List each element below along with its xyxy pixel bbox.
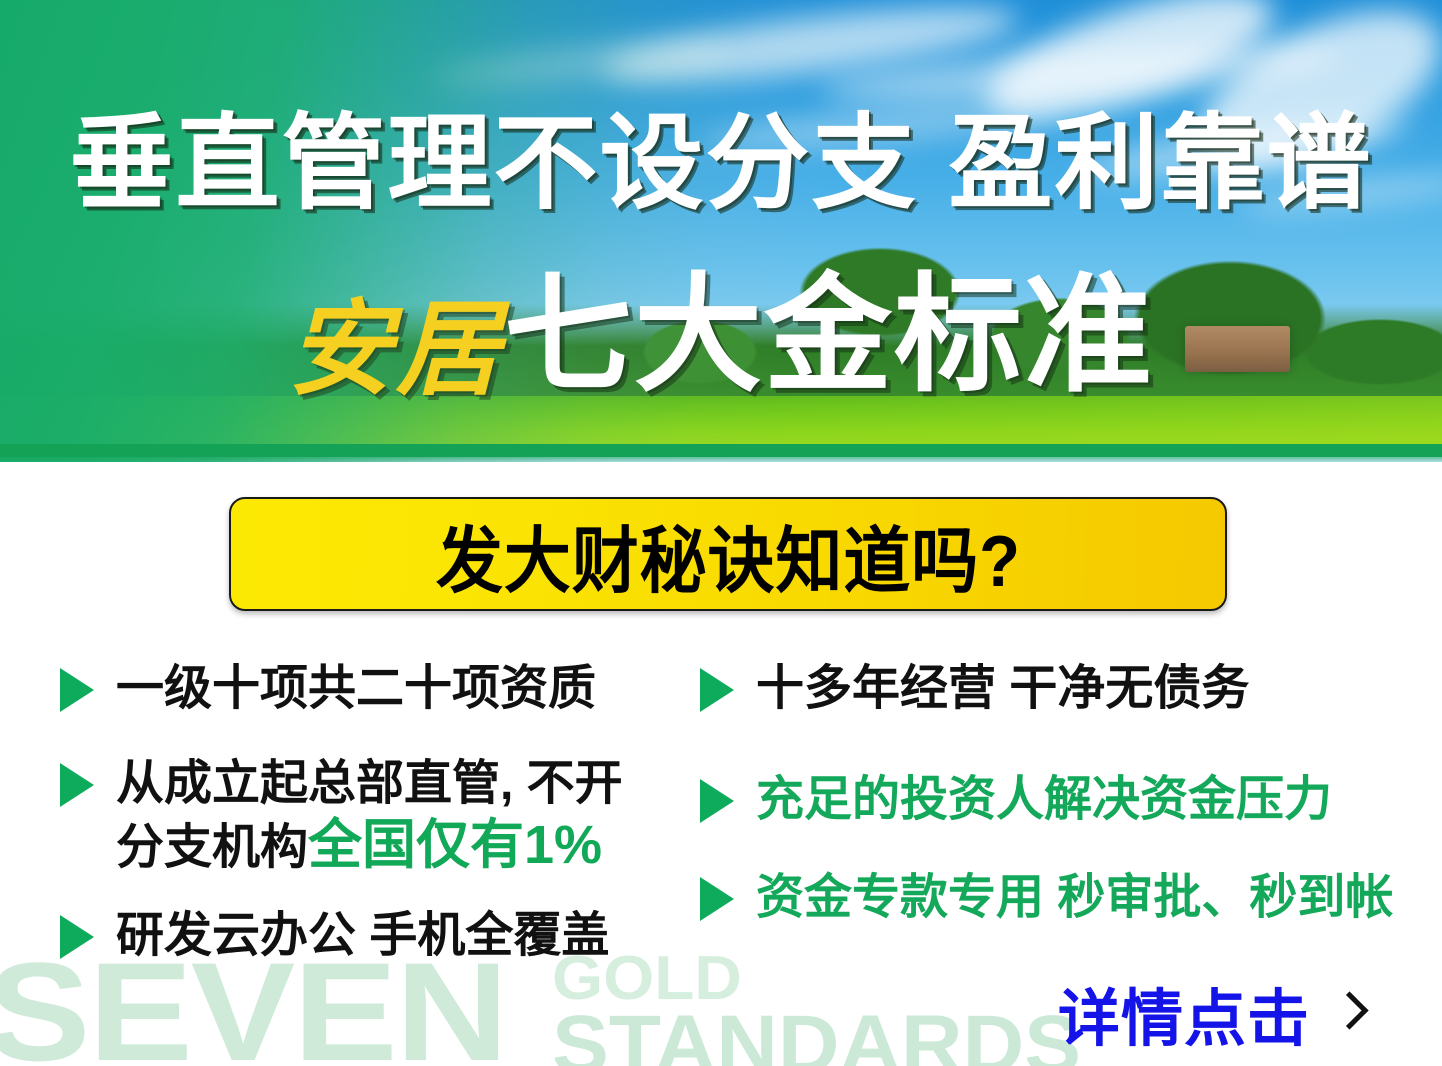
list-item-label: 研发云办公 手机全覆盖 xyxy=(116,907,609,966)
hero-headline-secondary: 安居七大金标准 xyxy=(0,272,1442,402)
brand-name-text: 安居 xyxy=(288,292,504,408)
list-item: 研发云办公 手机全覆盖 xyxy=(60,907,700,966)
hero-headline-primary: 垂直管理不设分支 盈利靠谱 xyxy=(0,112,1442,216)
list-item-label: 一级十项共二十项资质 xyxy=(116,660,596,719)
triangle-bullet-icon xyxy=(700,668,734,712)
cta-question-bar[interactable]: 发大财秘诀知道吗? xyxy=(229,497,1227,611)
triangle-bullet-icon xyxy=(60,668,94,712)
hero-bottom-bar xyxy=(0,444,1442,457)
triangle-bullet-icon xyxy=(60,915,94,959)
detail-link[interactable]: 详情点击 xyxy=(1058,968,1360,1058)
list-item-label: 十多年经营 干净无债务 xyxy=(756,660,1249,719)
triangle-bullet-icon xyxy=(700,779,734,823)
watermark-standards-text: STANDARDS xyxy=(552,1004,1081,1066)
list-item-label: 从成立起总部直管, 不开 分支机构全国仅有1% xyxy=(116,755,623,879)
list-item-line-1: 从成立起总部直管, 不开 xyxy=(116,757,623,810)
hero-headline-secondary-main: 七大金标准 xyxy=(504,264,1154,407)
hero-bottom-fade xyxy=(0,457,1442,462)
promo-banner: 垂直管理不设分支 盈利靠谱 安居七大金标准 发大财秘诀知道吗? 一级十项共二十项… xyxy=(0,0,1442,1066)
list-item-line-2: 分支机构 xyxy=(116,821,308,874)
list-item-label: 资金专款专用 秒审批、秒到帐 xyxy=(756,869,1393,928)
list-item: 充足的投资人解决资金压力 xyxy=(700,771,1400,830)
feature-columns: 一级十项共二十项资质 从成立起总部直管, 不开 分支机构全国仅有1% 研发云办公… xyxy=(0,660,1442,1000)
list-item: 资金专款专用 秒审批、秒到帐 xyxy=(700,869,1400,928)
triangle-bullet-icon xyxy=(60,763,94,807)
hero-section: 垂直管理不设分支 盈利靠谱 安居七大金标准 xyxy=(0,0,1442,462)
feature-column-right: 十多年经营 干净无债务 充足的投资人解决资金压力 资金专款专用 秒审批、秒到帐 xyxy=(700,660,1400,964)
list-item: 从成立起总部直管, 不开 分支机构全国仅有1% xyxy=(60,755,700,879)
feature-column-left: 一级十项共二十项资质 从成立起总部直管, 不开 分支机构全国仅有1% 研发云办公… xyxy=(60,660,700,1002)
chevron-right-icon xyxy=(1334,990,1360,1036)
list-item-label: 充足的投资人解决资金压力 xyxy=(756,771,1332,830)
triangle-bullet-icon xyxy=(700,877,734,921)
list-item-highlight: 全国仅有1% xyxy=(308,815,602,875)
list-item: 十多年经营 干净无债务 xyxy=(700,660,1400,719)
cta-question-text: 发大财秘诀知道吗? xyxy=(436,502,1021,607)
detail-link-label: 详情点击 xyxy=(1058,968,1310,1058)
list-item: 一级十项共二十项资质 xyxy=(60,660,700,719)
